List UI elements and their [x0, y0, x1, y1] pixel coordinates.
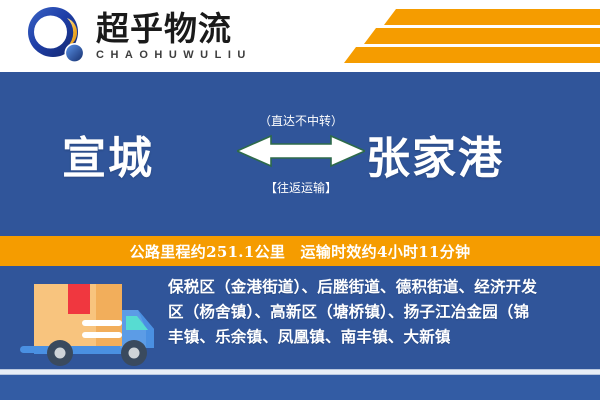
- route-info-bar: 公路里程约251.1公里 运输时效约4小时11分钟: [0, 236, 600, 266]
- destination-city-label: 张家港: [366, 122, 504, 186]
- coverage-line: 保税区（金港街道）、后塍街道、德积街道、经济开发: [168, 274, 588, 299]
- direct-route-note: （直达不中转）: [259, 112, 343, 129]
- origin-city-label: 宣城: [62, 122, 154, 186]
- brand-logo: 超乎物流 CHAOHUWULIU: [26, 6, 252, 66]
- delivery-truck-icon: [20, 274, 160, 372]
- coverage-line: 丰镇、乐余镇、凤凰镇、南丰镇、大新镇: [168, 324, 588, 349]
- orange-speed-stripes-icon: [340, 8, 600, 64]
- coverage-panel: 保税区（金港街道）、后塍街道、德积街道、经济开发 区（杨舍镇）、高新区（塘桥镇）…: [0, 266, 600, 400]
- coverage-line: 区（杨舍镇）、高新区（塘桥镇）、扬子江冶金园（锦: [168, 299, 588, 324]
- distance-duration-text: 公路里程约251.1公里 运输时效约4小时11分钟: [130, 241, 471, 262]
- coverage-area-text: 保税区（金港街道）、后塍街道、德积街道、经济开发 区（杨舍镇）、高新区（塘桥镇）…: [168, 274, 588, 349]
- brand-name-en: CHAOHUWULIU: [96, 49, 252, 61]
- road-surface: [0, 374, 600, 400]
- circle-crescent-logo-icon: [26, 6, 88, 66]
- route-panel: 宣城 （直达不中转） 【往返运输】 张家港: [0, 72, 600, 236]
- brand-name-cn: 超乎物流: [96, 11, 252, 47]
- brand-wordmark: 超乎物流 CHAOHUWULIU: [96, 11, 252, 62]
- logistics-route-banner: 超乎物流 CHAOHUWULIU 宣城 （直达不中转） 【往返运输】 张家港: [0, 0, 600, 400]
- banner-header: 超乎物流 CHAOHUWULIU: [0, 0, 600, 72]
- bidirectional-arrow-icon: [237, 134, 365, 173]
- route-arrow-group: （直达不中转） 【往返运输】: [236, 90, 366, 218]
- round-trip-note: 【往返运输】: [265, 179, 337, 196]
